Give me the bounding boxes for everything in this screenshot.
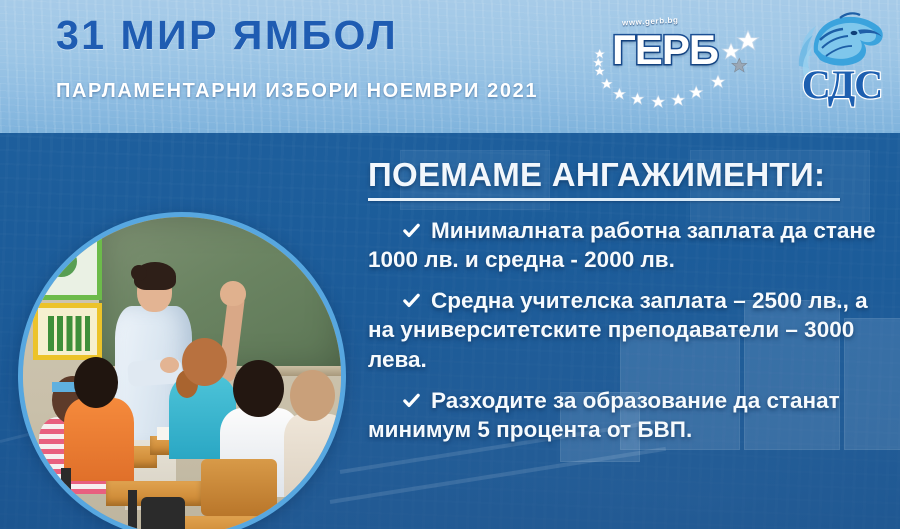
backpack <box>141 497 186 529</box>
list-item-text: Минималната работна заплата да стане 100… <box>368 218 876 272</box>
pupil-head <box>290 370 335 421</box>
svg-text:СДС: СДС <box>802 62 882 107</box>
sds-logo[interactable]: СДС <box>796 6 888 114</box>
check-icon <box>402 391 421 410</box>
pupil-body <box>64 398 134 481</box>
list-item: Минималната работна заплата да стане 100… <box>368 216 880 275</box>
bar-chart-icon <box>48 316 89 351</box>
heading-underline <box>368 198 840 201</box>
list-item: Средна учителска заплата – 2500 лв., а н… <box>368 286 880 374</box>
desk-frame <box>61 468 71 519</box>
commitments-list: Минималната работна заплата да стане 100… <box>368 216 880 445</box>
teacher-hair-bun <box>131 265 147 281</box>
pupil-head <box>74 357 119 408</box>
teacher-hand <box>160 357 179 373</box>
list-item-text: Средна учителска заплата – 2500 лв., а н… <box>368 288 868 372</box>
classroom-scene <box>23 217 341 529</box>
desk-frame <box>128 490 138 529</box>
commitments-panel: ПОЕМАМЕ АНГАЖИМЕНТИ: Минималната работна… <box>368 158 880 456</box>
pupil-body <box>284 414 346 497</box>
pupil-raised-hand <box>220 281 245 306</box>
pupil-head <box>182 338 227 386</box>
list-item: Разходите за образование да станат миним… <box>368 386 880 445</box>
sds-lion-head-icon: СДС <box>796 6 888 114</box>
page-subtitle: ПАРЛАМЕНТАРНИ ИЗБОРИ НОЕМВРИ 2021 <box>56 80 538 103</box>
gerb-wordmark: ГЕРБ <box>612 29 718 71</box>
commitments-heading: ПОЕМАМЕ АНГАЖИМЕНТИ: <box>368 158 880 193</box>
gerb-logo[interactable]: www.gerb.bg ГЕРБ <box>586 8 782 120</box>
list-item-text: Разходите за образование да станат миним… <box>368 388 840 442</box>
chair-back <box>201 459 277 516</box>
check-icon <box>402 221 421 240</box>
check-icon <box>402 291 421 310</box>
pupil-head <box>233 360 284 417</box>
campaign-poster: 31 МИР ЯМБОЛ ПАРЛАМЕНТАРНИ ИЗБОРИ НОЕМВР… <box>0 0 900 529</box>
page-title: 31 МИР ЯМБОЛ <box>56 12 398 59</box>
classroom-photo <box>18 212 346 529</box>
smiley-graphic-icon <box>45 246 77 278</box>
